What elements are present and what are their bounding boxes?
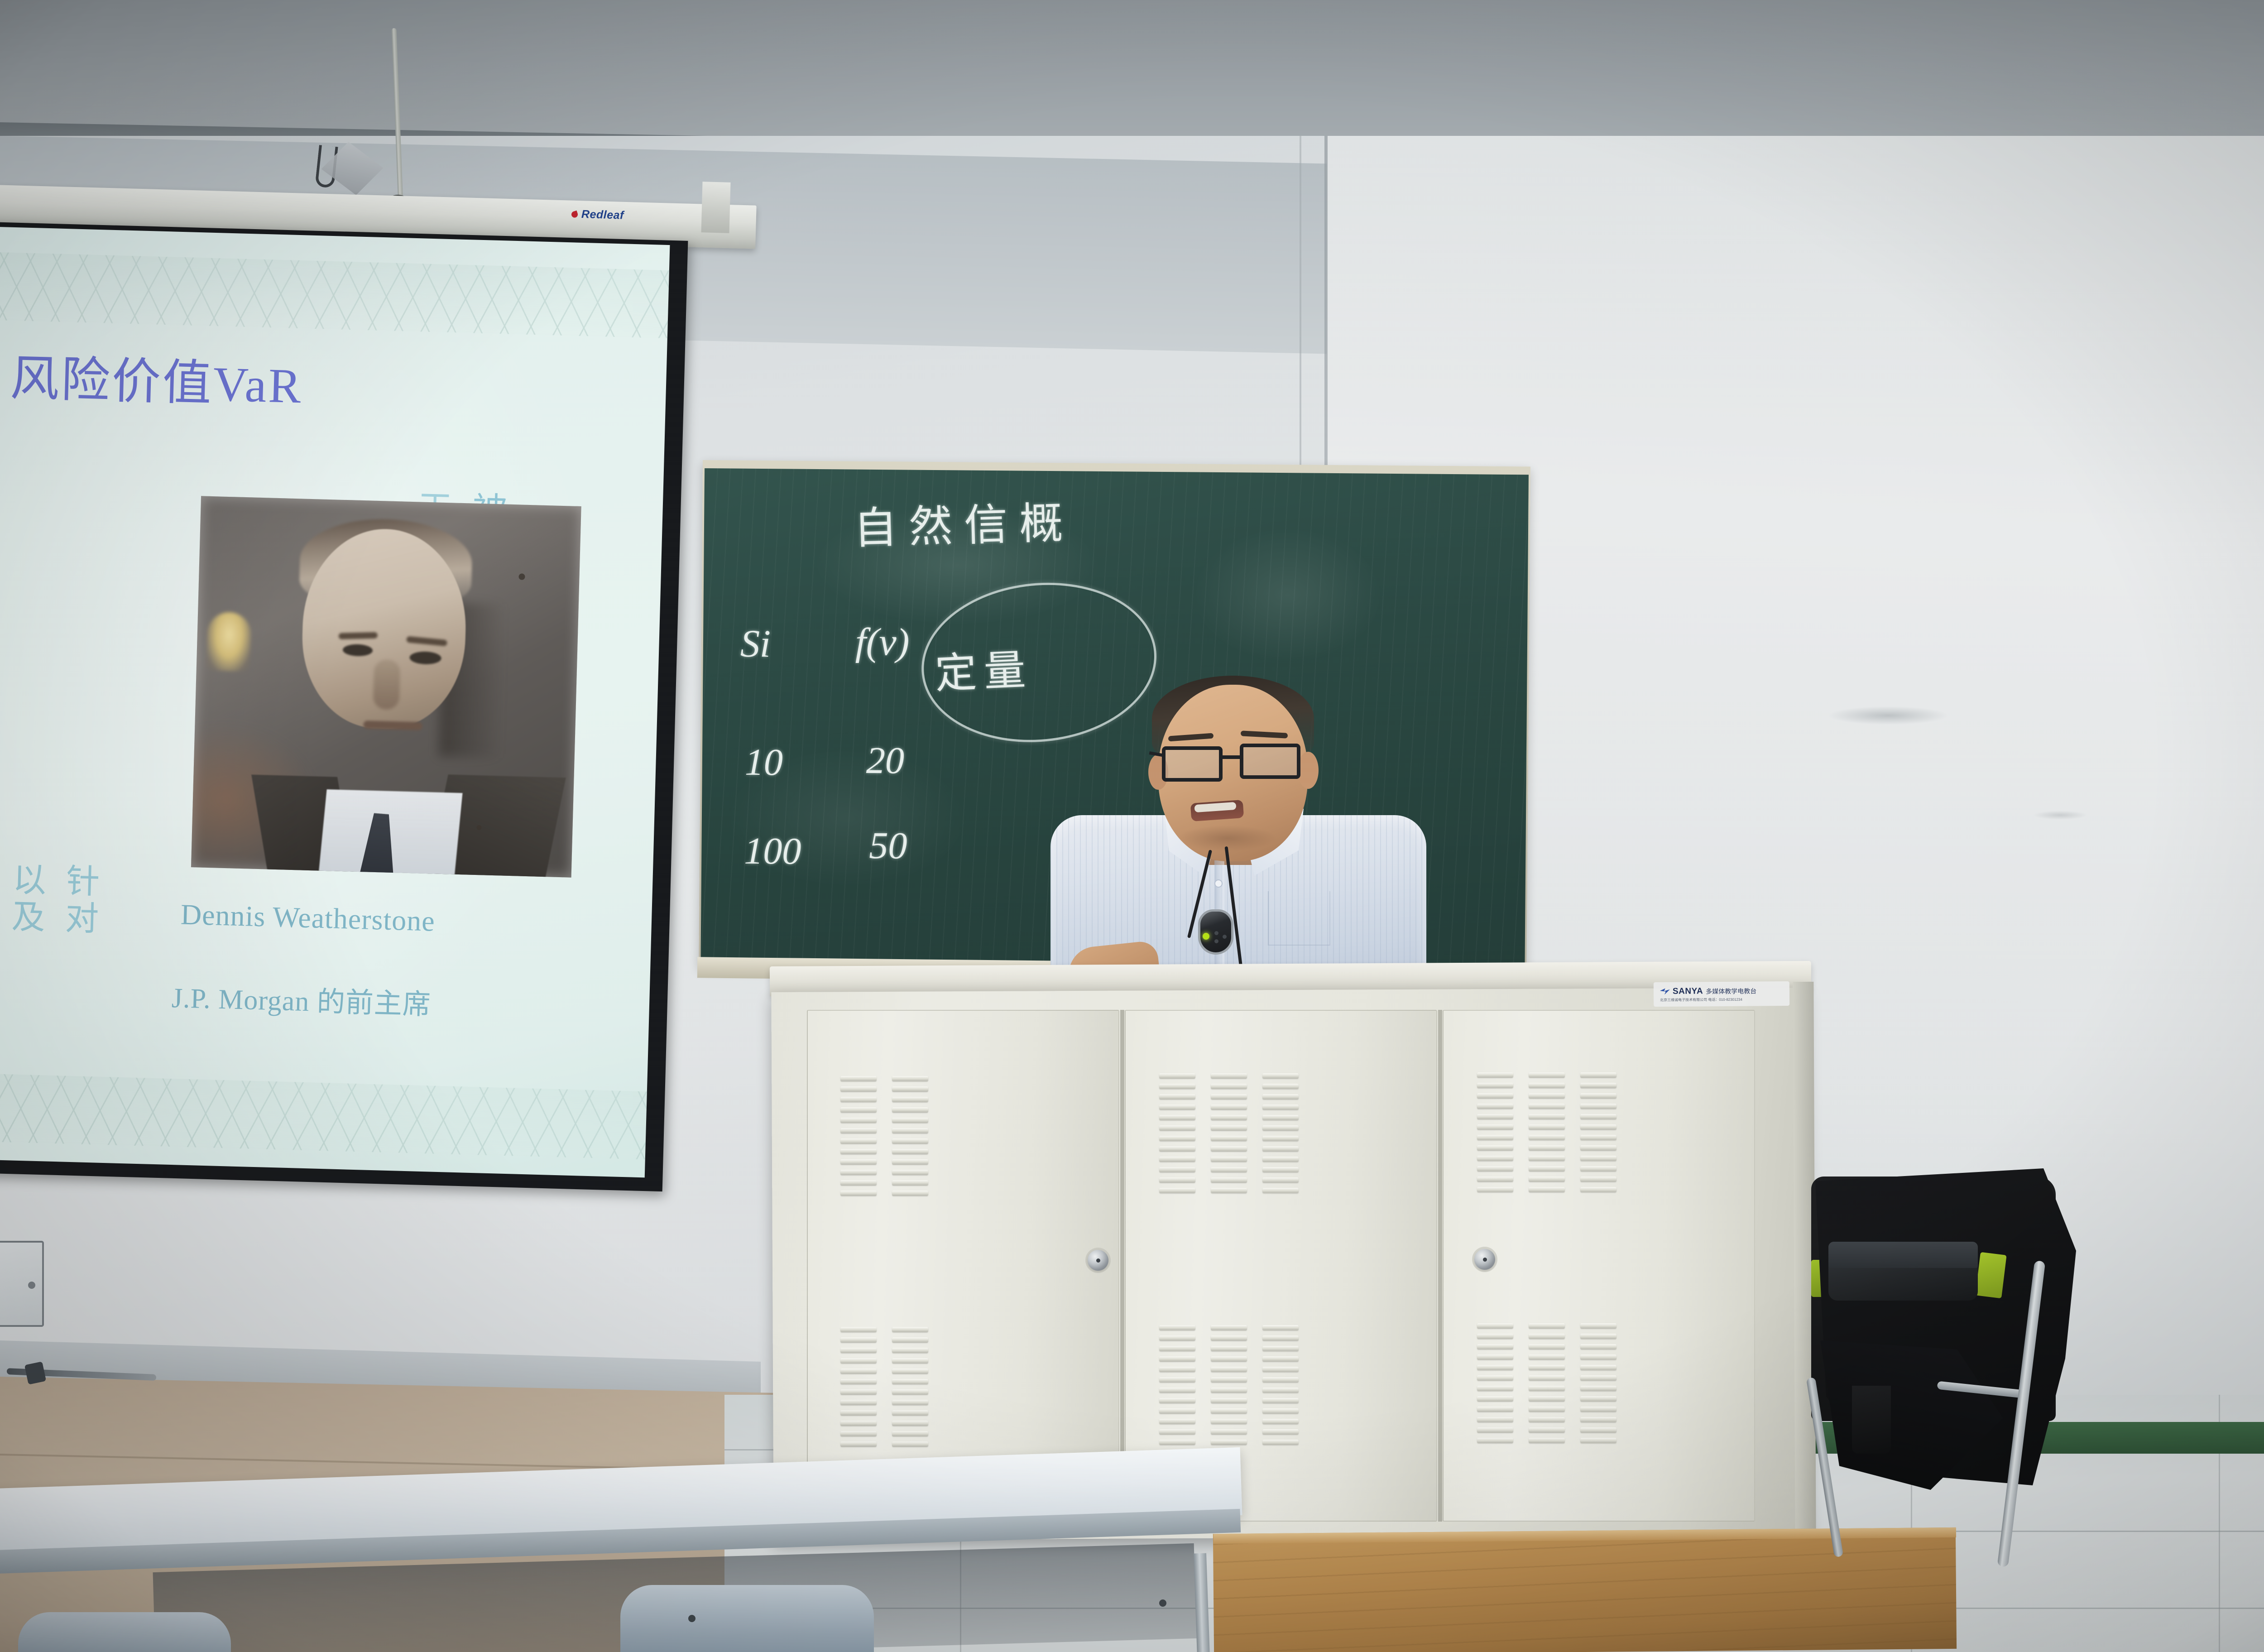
glasses-lens-left (1162, 746, 1223, 782)
foreground-chair-back (620, 1585, 874, 1652)
slide-vertical-lower-left: 以及 (3, 861, 48, 937)
microphone-power-led (1203, 933, 1209, 940)
microphone-control-dot (1223, 935, 1227, 939)
chalk-symbol-si: Si (740, 621, 771, 667)
vent-grille (1477, 1323, 1616, 1443)
redleaf-brand-logo: Redleaf (571, 207, 624, 222)
cabinet-lock-right[interactable] (1474, 1249, 1495, 1270)
foreground-chair-back (18, 1612, 231, 1652)
vent-grille (1477, 1072, 1616, 1192)
podium-brand-label: SANYA 多媒体教学电教台 北京三维诚电子技术有限公司 电话：010-8230… (1654, 981, 1789, 1007)
vent-grille (840, 1076, 928, 1196)
slide-vertical-lower-right: 针对 (56, 863, 102, 938)
sanya-logo-icon (1660, 988, 1670, 994)
portrait-lamp-icon (206, 612, 251, 672)
red-leaf-icon (571, 210, 579, 218)
wall-scuff-mark (1829, 706, 1947, 725)
vent-grille (840, 1327, 928, 1447)
wall-box-screw (28, 1282, 35, 1289)
glasses-bridge (1223, 755, 1242, 759)
podium-brand-text: SANYA (1673, 986, 1703, 996)
portrait-eyebrow-left (339, 632, 378, 639)
riser-wood-grain (1213, 1537, 1957, 1652)
chalk-smudge (729, 749, 965, 887)
chalk-smudge (1192, 526, 1383, 663)
wall-scuff-mark (2033, 811, 2087, 820)
microphone-control-dot (1214, 939, 1218, 943)
bag-flap (1828, 1242, 1978, 1268)
podium-door-gap (1438, 1010, 1442, 1522)
presenter-shirt-button (1214, 879, 1223, 888)
slide-border-bottom (0, 1073, 647, 1159)
slide-caption-name: Dennis Weatherstone (180, 898, 625, 943)
podium-manufacturer-line: 北京三维诚电子技术有限公司 电话：010-82301234 (1660, 996, 1789, 1002)
redleaf-brand-text: Redleaf (581, 208, 624, 222)
portrait-mouth (363, 720, 422, 730)
podium-product-name: 多媒体教学电教台 (1706, 986, 1756, 996)
slide-border-top (0, 252, 669, 338)
presenter (1055, 666, 1426, 992)
green-folder (1975, 1252, 2006, 1298)
podium-door-gap (1120, 1010, 1124, 1522)
chair-foot (1852, 1386, 1891, 1454)
presenter-shirt-pocket (1268, 891, 1330, 946)
slide-vertical-text-lower: 针对 以及 (0, 859, 102, 938)
ceiling (0, 0, 2264, 149)
screen-housing-end-cap (701, 182, 730, 233)
chalk-symbol-fv: f(v) (855, 619, 910, 665)
glasses-icon (1160, 744, 1308, 783)
projection-screen-surface[interactable]: ：风险价值VaR 被摩裁向司能的 天P.总，公可名 针对 以及 (0, 226, 670, 1177)
desk-screw (688, 1615, 696, 1622)
vent-grille (1159, 1073, 1299, 1193)
vent-grille (1159, 1325, 1299, 1445)
desk-screw (1159, 1599, 1166, 1607)
slide-portrait-photo (191, 496, 581, 877)
slide-title: ：风险价值VaR (0, 337, 631, 426)
microphone-control-dot (1214, 931, 1218, 935)
portrait-dust-spot (518, 573, 525, 580)
classroom-scene: Redleaf ：风险价值VaR 被摩裁向司能的 天P.总，公可名 针对 以及 (0, 0, 2264, 1652)
wall-electrical-box (0, 1241, 44, 1327)
cabinet-lock-left[interactable] (1088, 1250, 1108, 1271)
slide-caption-role: J.P. Morgan 的前主席 (171, 975, 643, 1028)
glasses-lens-right (1240, 744, 1300, 779)
portrait-nose (373, 659, 400, 710)
